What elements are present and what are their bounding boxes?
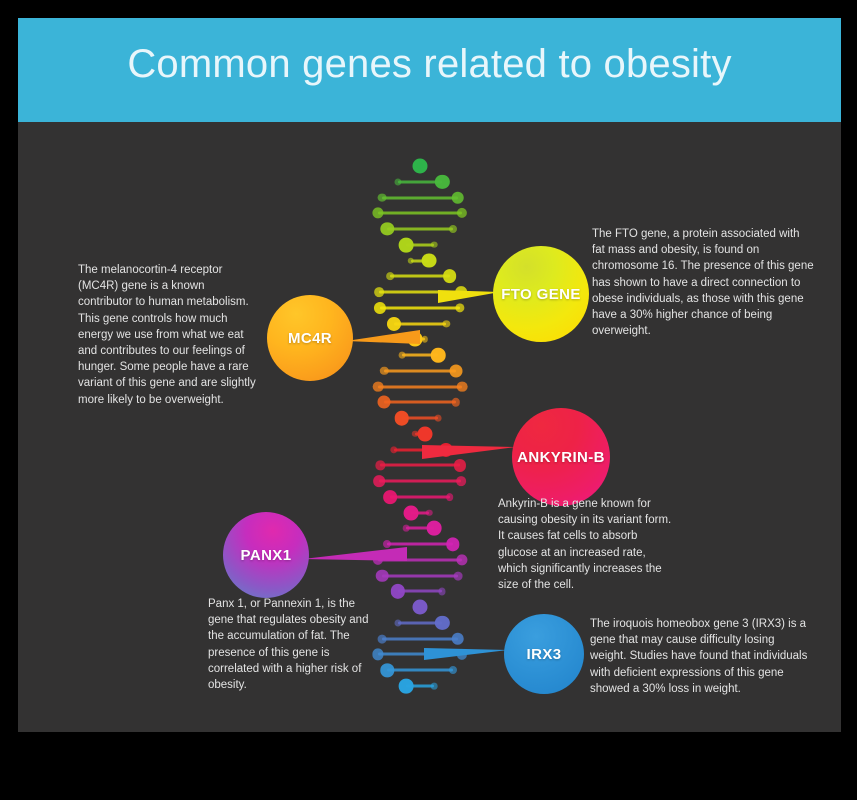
gene-label-mc4r: MC4R <box>288 330 332 347</box>
gene-description-fto: The FTO gene, a protein associated with … <box>592 226 814 339</box>
helix-nucleotide <box>383 490 397 504</box>
helix-nucleotide <box>435 415 442 422</box>
helix-nucleotide <box>422 253 437 268</box>
page-title: Common genes related to obesity <box>18 42 841 87</box>
helix-base-pair-bond <box>382 574 458 577</box>
helix-nucleotide <box>452 632 465 645</box>
helix-nucleotide <box>446 493 454 501</box>
helix-nucleotide <box>373 381 384 392</box>
helix-base-pair-bond <box>380 306 459 309</box>
gene-bubble-mc4r[interactable]: MC4R <box>267 295 353 381</box>
helix-nucleotide <box>376 461 385 470</box>
helix-nucleotide <box>452 191 465 204</box>
helix-nucleotide <box>426 521 441 536</box>
helix-nucleotide <box>456 554 467 565</box>
helix-base-pair-bond <box>382 196 458 199</box>
gene-bubble-fto[interactable]: FTO GENE <box>493 246 589 342</box>
helix-nucleotide <box>394 178 401 185</box>
helix-nucleotide <box>443 269 457 283</box>
gene-label-fto: FTO GENE <box>501 286 581 303</box>
gene-bubble-ankyrin-b[interactable]: ANKYRIN-B <box>512 408 610 506</box>
helix-nucleotide <box>374 287 384 297</box>
helix-nucleotide <box>398 352 405 359</box>
helix-base-pair-bond <box>380 464 459 467</box>
helix-nucleotide <box>413 600 428 615</box>
helix-nucleotide <box>373 475 385 487</box>
helix-nucleotide <box>443 320 450 327</box>
helix-nucleotide <box>449 364 462 377</box>
helix-base-pair-bond <box>390 495 449 498</box>
helix-nucleotide <box>407 257 414 264</box>
helix-base-pair-bond <box>387 543 453 546</box>
helix-nucleotide <box>378 634 387 643</box>
helix-nucleotide <box>390 584 404 598</box>
helix-nucleotide <box>417 426 432 441</box>
connector-mc4r <box>346 330 420 344</box>
helix-nucleotide <box>386 272 394 280</box>
infographic-canvas: Common genes related to obesity FTO GENE… <box>18 18 841 732</box>
helix-nucleotide <box>454 459 466 471</box>
helix-nucleotide <box>390 446 397 453</box>
helix-nucleotide <box>453 571 462 580</box>
header-band: Common genes related to obesity <box>18 18 841 122</box>
helix-nucleotide <box>387 317 401 331</box>
gene-label-panx1: PANX1 <box>241 547 292 564</box>
connector-fto <box>438 290 500 303</box>
helix-nucleotide <box>399 679 414 694</box>
helix-nucleotide <box>457 381 468 392</box>
gene-description-ankyrin-b: Ankyrin-B is a gene known for causing ob… <box>498 496 678 593</box>
connector-ankyrin-b <box>422 445 516 459</box>
helix-base-pair-bond <box>394 322 446 325</box>
helix-nucleotide <box>380 664 393 677</box>
helix-nucleotide <box>455 303 464 312</box>
gene-bubble-irx3[interactable]: IRX3 <box>504 614 584 694</box>
helix-nucleotide <box>435 175 449 189</box>
helix-base-pair-bond <box>378 212 461 215</box>
helix-nucleotide <box>457 208 467 218</box>
helix-nucleotide <box>449 666 457 674</box>
helix-nucleotide <box>431 683 438 690</box>
gene-label-ankyrin-b: ANKYRIN-B <box>517 449 605 466</box>
helix-nucleotide <box>403 505 418 520</box>
helix-nucleotide <box>378 193 387 202</box>
helix-nucleotide <box>446 537 459 550</box>
helix-nucleotide <box>435 616 449 630</box>
connector-irx3 <box>424 648 508 660</box>
helix-base-pair-bond <box>378 385 462 388</box>
helix-nucleotide <box>380 367 388 375</box>
helix-nucleotide <box>380 222 393 235</box>
gene-bubble-panx1[interactable]: PANX1 <box>223 512 309 598</box>
helix-base-pair-bond <box>384 369 455 372</box>
helix-nucleotide <box>439 588 446 595</box>
helix-nucleotide <box>376 569 389 582</box>
helix-nucleotide <box>394 411 409 426</box>
helix-nucleotide <box>374 302 386 314</box>
helix-nucleotide <box>421 336 427 342</box>
gene-description-irx3: The iroquois homeobox gene 3 (IRX3) is a… <box>590 616 814 697</box>
helix-nucleotide <box>403 525 410 532</box>
helix-base-pair-bond <box>390 275 449 278</box>
helix-nucleotide <box>394 619 401 626</box>
helix-nucleotide <box>456 476 466 486</box>
helix-base-pair-bond <box>387 228 453 231</box>
helix-nucleotide <box>378 396 391 409</box>
helix-nucleotide <box>431 241 438 248</box>
gene-description-mc4r: The melanocortin-4 receptor (MC4R) gene … <box>78 262 258 408</box>
helix-nucleotide <box>399 237 414 252</box>
connector-panx1 <box>303 547 407 561</box>
gene-description-panx1: Panx 1, or Pannexin 1, is the gene that … <box>208 596 378 693</box>
helix-base-pair-bond <box>382 637 458 640</box>
helix-base-pair-bond <box>384 401 455 404</box>
gene-label-irx3: IRX3 <box>527 646 562 663</box>
helix-base-pair-bond <box>387 669 453 672</box>
helix-nucleotide <box>373 208 384 219</box>
helix-nucleotide <box>451 398 459 406</box>
helix-base-pair-bond <box>379 480 461 483</box>
helix-nucleotide <box>426 509 433 516</box>
helix-nucleotide <box>431 348 446 363</box>
helix-nucleotide <box>449 225 457 233</box>
